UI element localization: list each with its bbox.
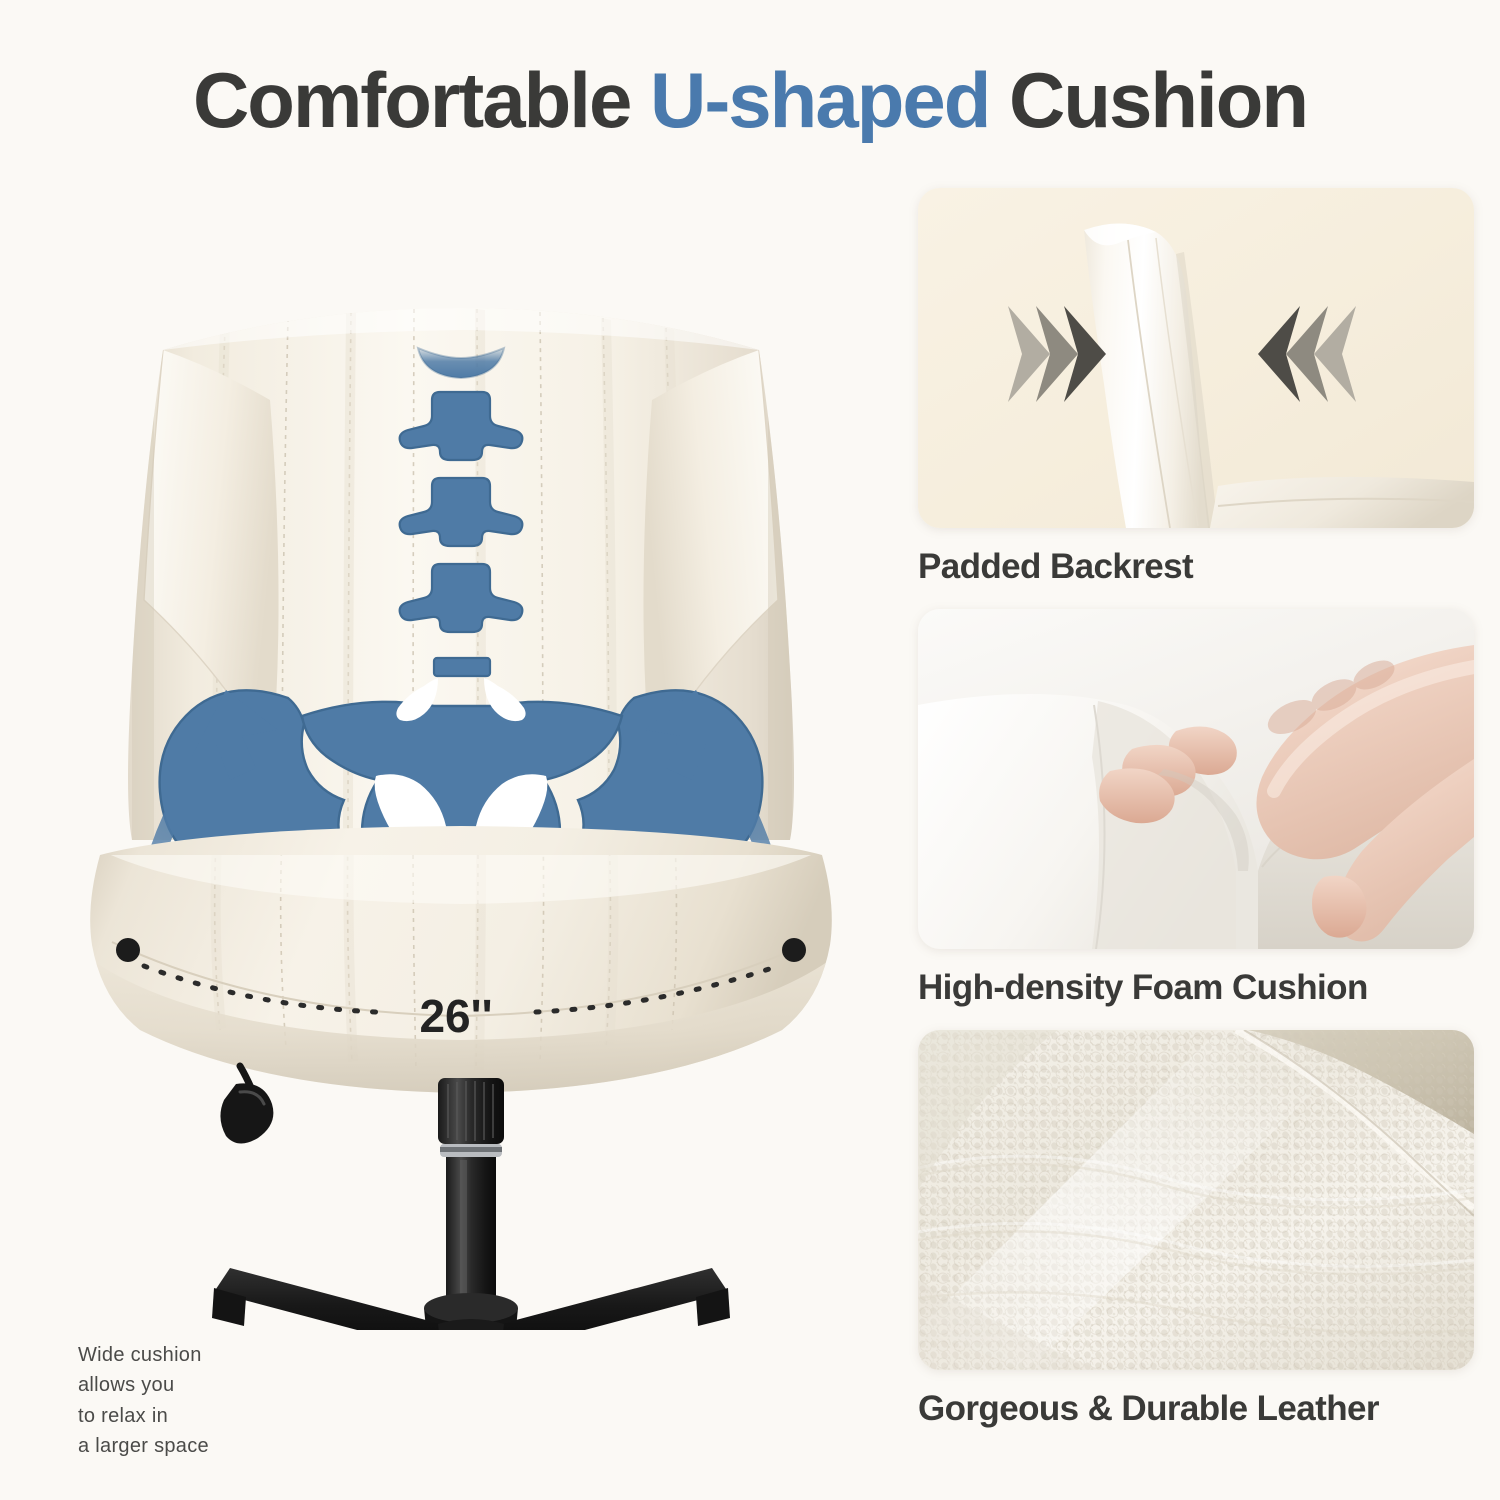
feature-media-leather — [918, 1030, 1474, 1370]
dimension-endpoint-left — [116, 938, 140, 962]
feature-label-leather: Gorgeous & Durable Leather — [918, 1389, 1474, 1429]
gas-cylinder-column — [424, 1078, 518, 1330]
feature-leather: Gorgeous & Durable Leather — [918, 1030, 1474, 1429]
height-adjust-lever — [220, 1066, 273, 1144]
feature-label-padded-backrest: Padded Backrest — [918, 547, 1474, 587]
feature-panel-list: Padded Backrest — [918, 188, 1474, 1451]
feature-foam-cushion: High-density Foam Cushion — [918, 609, 1474, 1008]
page-title-part2: Cushion — [989, 56, 1307, 144]
dimension-label: 26'' — [419, 990, 492, 1042]
dimension-endpoint-right — [782, 938, 806, 962]
chair-seat-cushion — [90, 822, 832, 1099]
hero-caption: Wide cushion allows you to relax in a la… — [78, 1340, 378, 1462]
hero-caption-line-1: Wide cushion — [78, 1340, 378, 1370]
hero-caption-line-4: a larger space — [78, 1431, 378, 1461]
page-title-part1: Comfortable — [193, 56, 650, 144]
hero-caption-line-2: allows you — [78, 1370, 378, 1400]
feature-padded-backrest: Padded Backrest — [918, 188, 1474, 587]
feature-label-foam-cushion: High-density Foam Cushion — [918, 968, 1474, 1008]
hero-product-image: 26'' — [20, 200, 900, 1330]
page-title: Comfortable U-shaped Cushion — [0, 58, 1500, 144]
feature-media-padded-backrest — [918, 188, 1474, 528]
hero-caption-line-3: to relax in — [78, 1401, 378, 1431]
page-title-accent: U-shaped — [650, 56, 989, 144]
feature-media-foam-cushion — [918, 609, 1474, 949]
